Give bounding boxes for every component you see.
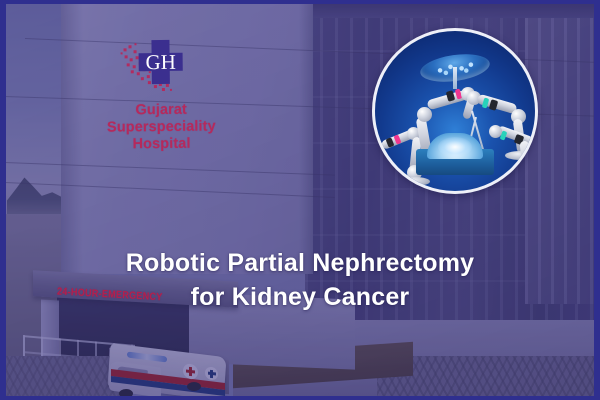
logo-monogram: GH <box>145 50 176 74</box>
headline-line-2: for Kidney Cancer <box>0 281 600 315</box>
surgical-light-post <box>453 67 457 89</box>
headline-line-1: Robotic Partial Nephrectomy <box>126 249 475 277</box>
hospital-signboard: GH Gujarat Superspeciality Hospital <box>85 33 236 154</box>
hospital-name: Gujarat Superspeciality Hospital <box>86 101 237 154</box>
surgical-field-glow <box>438 137 472 157</box>
tower-roof <box>305 4 595 18</box>
robotic-surgery-photo <box>372 28 538 194</box>
ambulance <box>109 342 239 396</box>
arm-joint <box>417 107 432 122</box>
headline: Robotic Partial Nephrectomy for Kidney C… <box>0 247 600 314</box>
arm-base <box>509 173 538 182</box>
arm-joint <box>489 125 502 138</box>
banner-root: 24-HOUR-EMERGENCY <box>0 0 600 400</box>
hospital-name-line-1: Gujarat <box>86 101 236 120</box>
ambulance-wheel <box>119 389 133 396</box>
ambulance-wheel <box>187 382 201 391</box>
paving-left <box>5 356 125 396</box>
hospital-name-line-2: Superspeciality <box>86 118 236 137</box>
medical-cross-logo-icon: GH <box>117 34 204 97</box>
gh-cross-logo-svg: GH <box>117 34 204 97</box>
hospital-name-line-3: Hospital <box>86 135 236 154</box>
facade-shadow <box>61 4 83 274</box>
